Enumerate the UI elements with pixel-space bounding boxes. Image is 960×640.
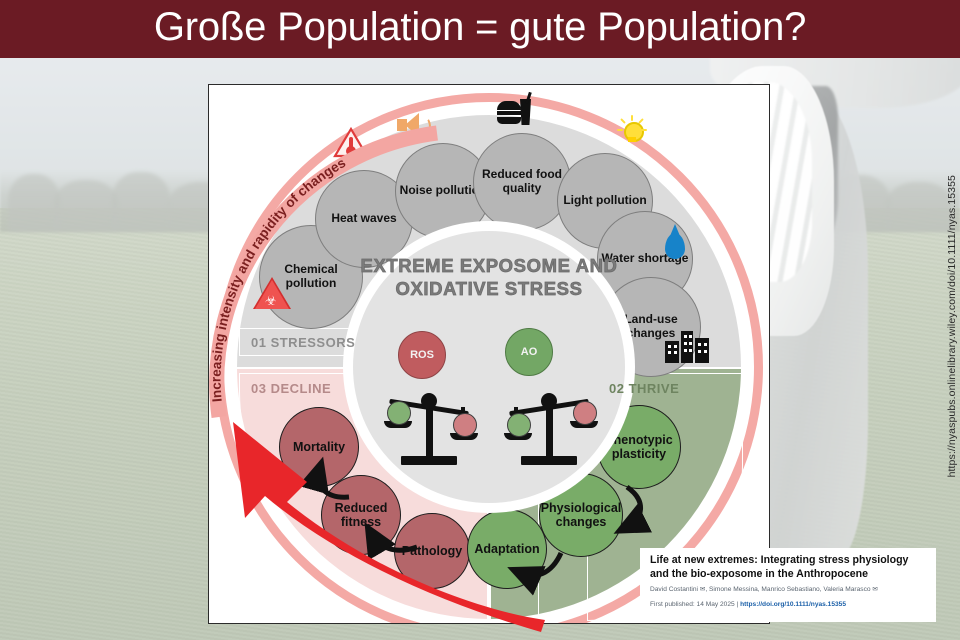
source-url-vertical[interactable]: https://nyaspubs.onlinelibrary.wiley.com…: [946, 175, 958, 477]
page-title: Große Population = gute Population?: [0, 0, 960, 56]
caption-doi-link[interactable]: https://doi.org/10.1111/nyas.15355: [740, 601, 846, 608]
svg-text:Increasing intensity and rapid: Increasing intensity and rapidity of cha…: [209, 155, 348, 403]
lightbulb-icon: [617, 117, 647, 147]
title-banner: Große Population = gute Population?: [0, 0, 960, 58]
stressor-label: Light pollution: [563, 194, 646, 208]
ao-label: AO: [521, 346, 538, 358]
stressor-bubble-reduced-food-quality[interactable]: Reduced food quality: [473, 133, 571, 231]
water-drop-icon: [665, 233, 685, 259]
slide-canvas: Große Population = gute Population? http…: [0, 0, 960, 640]
arc-ribbon: Increasing intensity and rapidity of cha…: [208, 121, 431, 351]
published-date: First published: 14 May 2025: [650, 601, 735, 608]
caption-separator: |: [737, 601, 739, 608]
node-label: Physiological changes: [540, 501, 622, 530]
buildings-icon: [665, 321, 711, 363]
ao-badge: AO: [505, 328, 553, 376]
burger-drink-icon: [497, 97, 531, 127]
arc-label-text: Increasing intensity and rapidity of cha…: [209, 155, 348, 403]
section-label-thrive: 02 THRIVE: [609, 381, 679, 396]
caption-published: First published: 14 May 2025 | https://d…: [650, 601, 928, 608]
red-trend-arrow: [215, 410, 545, 635]
caption-title: Life at new extremes: Integrating stress…: [650, 554, 928, 581]
caption-authors: David Costantini ✉, Simone Messina, Manr…: [650, 586, 928, 595]
article-caption: Life at new extremes: Integrating stress…: [640, 548, 936, 622]
stressor-label: Reduced food quality: [474, 168, 570, 196]
